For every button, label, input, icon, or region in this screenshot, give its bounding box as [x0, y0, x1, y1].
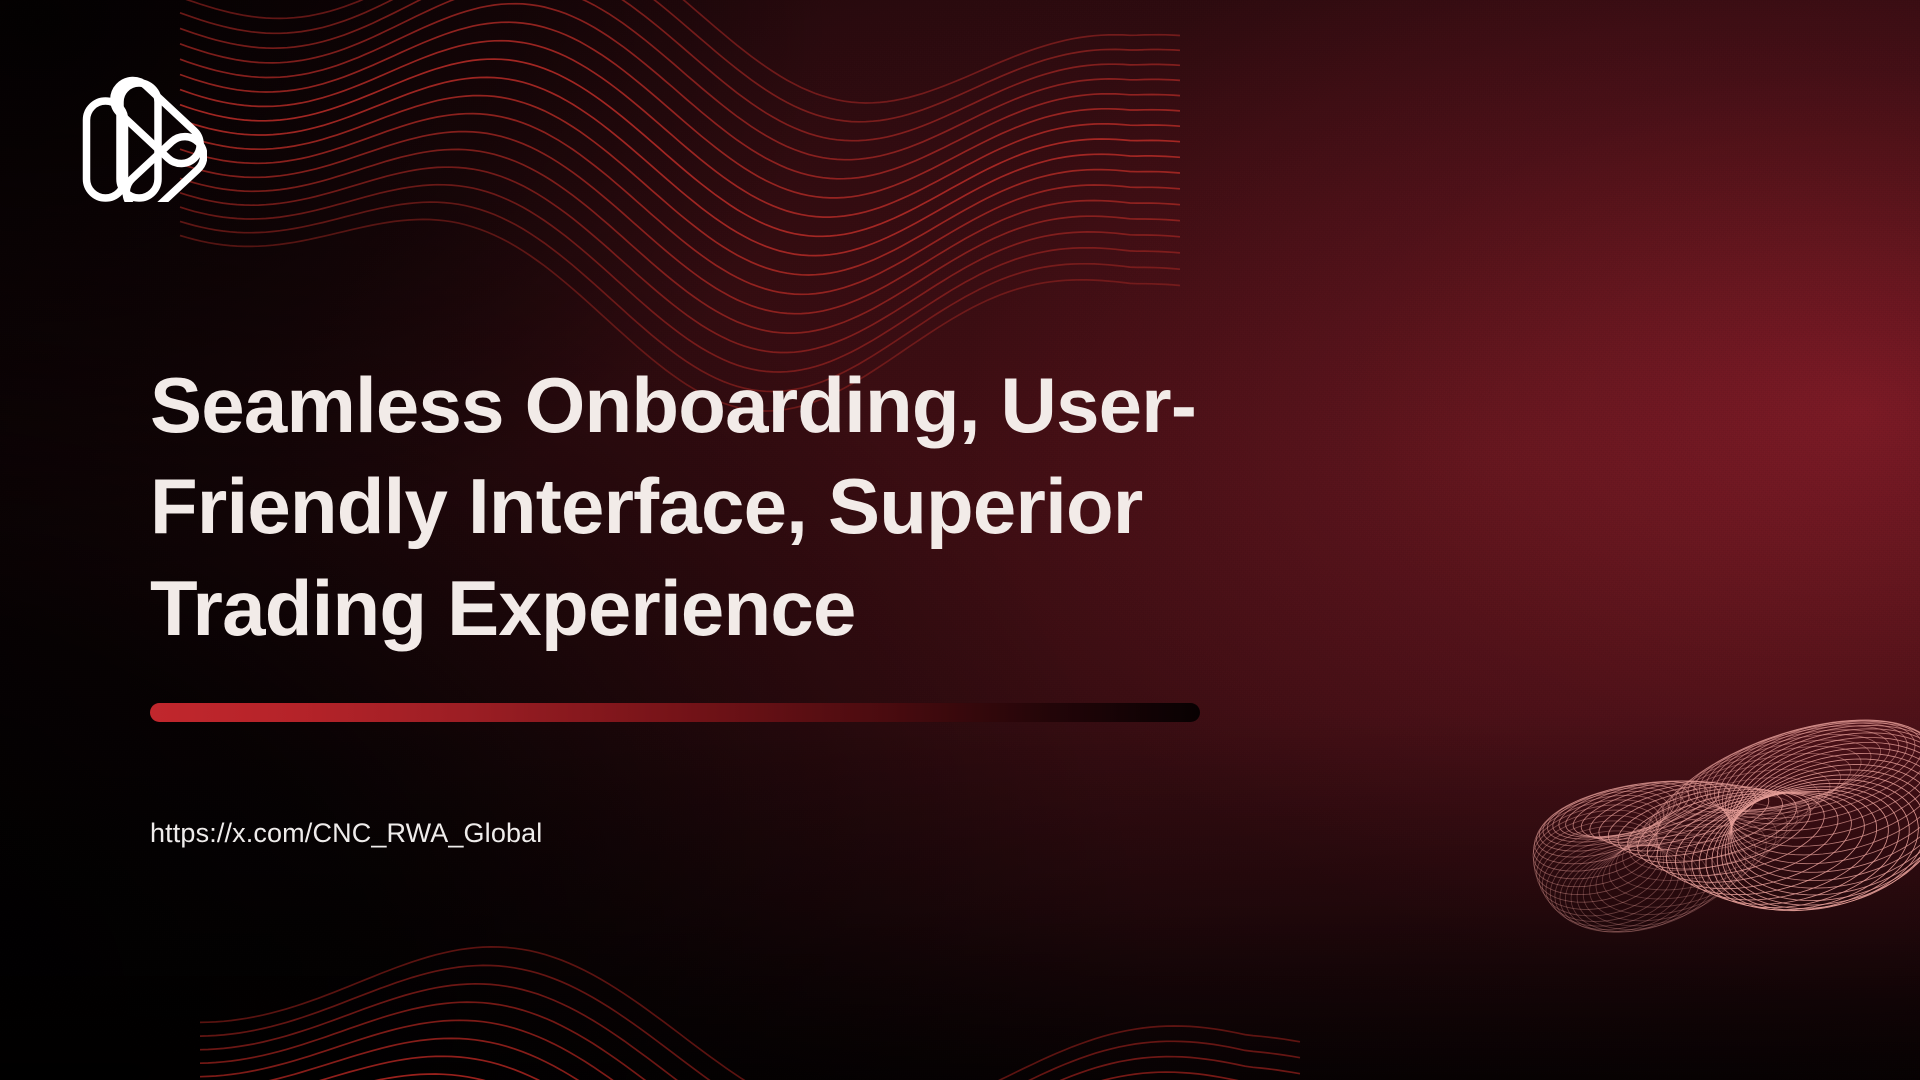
headline-line-3: Trading Experience	[150, 558, 1670, 659]
headline-line-2: Friendly Interface, Superior	[150, 456, 1670, 557]
page-title: Seamless Onboarding, User- Friendly Inte…	[150, 355, 1670, 659]
sine-wave-mesh-icon	[200, 880, 1300, 1080]
poster-content: Seamless Onboarding, User- Friendly Inte…	[150, 355, 1710, 849]
headline-line-1: Seamless Onboarding, User-	[150, 355, 1670, 456]
promo-poster: Seamless Onboarding, User- Friendly Inte…	[0, 0, 1920, 1080]
brand-logo-icon[interactable]	[82, 62, 207, 202]
sine-wave-mesh-icon	[180, 0, 1180, 280]
accent-divider-bar	[150, 703, 1200, 722]
source-url-text[interactable]: https://x.com/CNC_RWA_Global	[150, 818, 1710, 849]
